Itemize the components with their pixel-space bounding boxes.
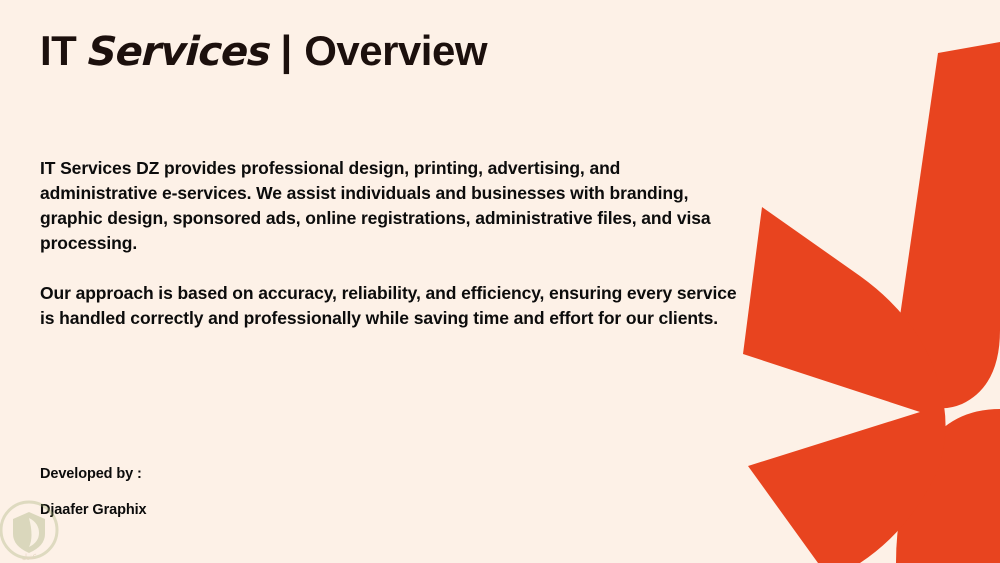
shield-leaf-icon bbox=[13, 512, 45, 553]
page-title: IT Services | Overview bbox=[40, 30, 487, 72]
page-title-lead: IT bbox=[40, 30, 76, 72]
watermark-caption: كفيل bbox=[22, 553, 37, 561]
credits-block: Developed by : Djaafer Graphix bbox=[40, 467, 147, 517]
page-title-divider: | bbox=[280, 30, 292, 72]
page-title-logo-word: Services bbox=[87, 32, 271, 72]
slide-canvas: IT Services | Overview IT Services DZ pr… bbox=[0, 0, 1000, 563]
paragraph-intro: IT Services DZ provides professional des… bbox=[40, 156, 740, 256]
body-copy: IT Services DZ provides professional des… bbox=[40, 156, 740, 331]
shield-leaf-inner-icon bbox=[29, 518, 39, 547]
chevron-right-icon bbox=[743, 207, 946, 563]
decorative-artwork bbox=[700, 0, 1000, 563]
page-title-trail: Overview bbox=[304, 30, 487, 72]
petal-top-icon bbox=[898, 42, 1000, 408]
petal-bottom-icon bbox=[896, 409, 1000, 563]
credits-author: Djaafer Graphix bbox=[40, 503, 147, 518]
paragraph-approach: Our approach is based on accuracy, relia… bbox=[40, 281, 740, 331]
credits-label: Developed by : bbox=[40, 467, 147, 482]
